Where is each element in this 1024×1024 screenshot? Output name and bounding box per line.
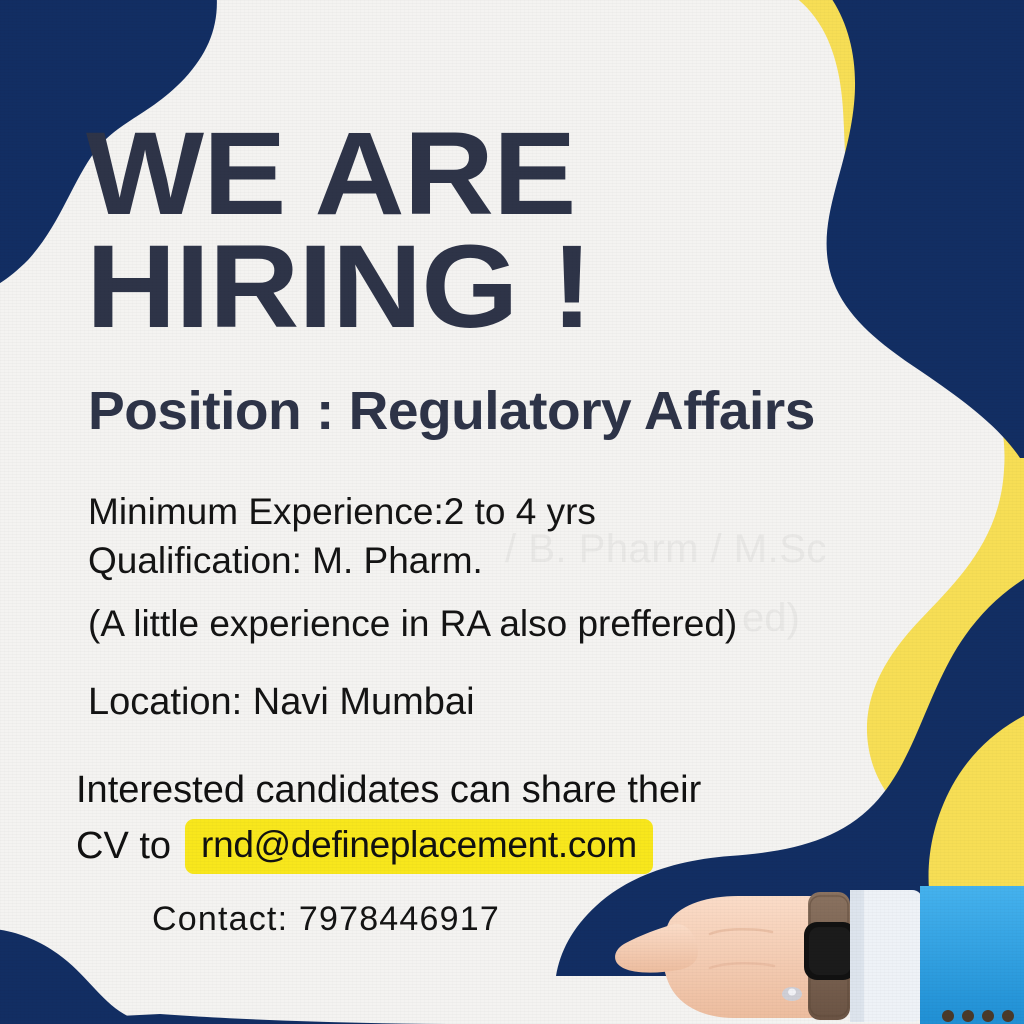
email-address[interactable]: rnd@defineplacement.com <box>185 819 653 874</box>
hiring-poster: WE ARE HIRING ! Position : Regulatory Af… <box>0 0 1024 1024</box>
navy-blob-bottom-left <box>0 928 166 1024</box>
sleeve-button-3 <box>982 1010 994 1022</box>
cta-line-2-prefix: CV to <box>76 818 171 874</box>
suit-sleeve <box>920 886 1024 1024</box>
cta-email-row: CV to rnd@defineplacement.com <box>76 818 701 874</box>
location-line: Location: Navi Mumbai <box>88 681 475 724</box>
index-finger <box>615 924 698 973</box>
call-to-action: Interested candidates can share their CV… <box>76 762 701 874</box>
position-heading: Position : Regulatory Affairs <box>88 382 815 441</box>
pointing-hand-illustration <box>612 876 1024 1024</box>
ring-stone <box>788 989 796 996</box>
ghost-text-qualification: / B. Pharm / M.Sc <box>505 527 827 572</box>
cta-line-1: Interested candidates can share their <box>76 762 701 818</box>
cuff-shadow <box>850 890 864 1022</box>
ghost-text-note: ed) <box>742 596 800 641</box>
contact-line[interactable]: Contact: 7978446917 <box>152 900 500 939</box>
sleeve-button-4 <box>1002 1010 1014 1022</box>
note-line: (A little experience in RA also preffere… <box>88 599 737 648</box>
watch-face <box>809 927 851 975</box>
sleeve-button-2 <box>962 1010 974 1022</box>
sleeve-button-1 <box>942 1010 954 1022</box>
page-title: WE ARE HIRING ! <box>86 118 1019 345</box>
